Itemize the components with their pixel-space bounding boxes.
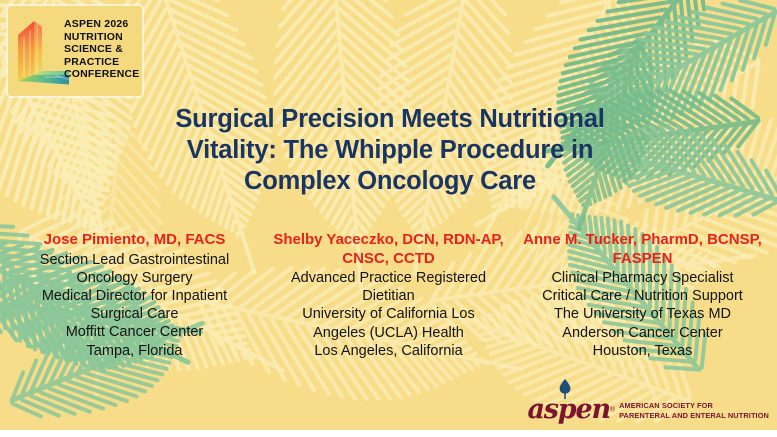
speaker-detail-line: Angeles (UCLA) Health: [262, 324, 515, 342]
badge-line-1: ASPEN 2026: [64, 18, 138, 31]
speaker-detail-line: Oncology Surgery: [8, 269, 261, 287]
badge-line-2: NUTRITION: [64, 31, 138, 44]
speaker-name: Shelby Yaceczko, DCN, RDN-AP, CNSC, CCTD: [262, 231, 515, 268]
speaker-detail-line: Critical Care / Nutrition Support: [516, 287, 769, 305]
title-line-1: Surgical Precision Meets Nutritional: [110, 104, 670, 135]
speaker-details: Clinical Pharmacy Specialist Critical Ca…: [516, 269, 769, 360]
speaker-detail-line: The University of Texas MD: [516, 305, 769, 323]
speaker-detail-line: Dietitian: [262, 287, 515, 305]
bottom-white-strip: [0, 430, 777, 437]
registered-mark: ®: [610, 407, 615, 414]
aspen-tagline-line-2: PARENTERAL AND ENTERAL NUTRITION: [619, 411, 769, 420]
speaker-card-2: Shelby Yaceczko, DCN, RDN-AP, CNSC, CCTD…: [262, 231, 515, 391]
speaker-name: Jose Pimiento, MD, FACS: [8, 231, 261, 250]
aspen-2026-prism-mark: [15, 15, 69, 89]
speaker-card-3: Anne M. Tucker, PharmD, BCNSP, FASPEN Cl…: [516, 231, 769, 391]
badge-text-block: ASPEN 2026 NUTRITION SCIENCE & PRACTICE …: [64, 18, 138, 81]
speaker-detail-line: Clinical Pharmacy Specialist: [516, 269, 769, 287]
conference-title-slide: ASPEN 2026 NUTRITION SCIENCE & PRACTICE …: [0, 0, 777, 437]
speaker-detail-line: University of California Los: [262, 305, 515, 323]
speaker-name: Anne M. Tucker, PharmD, BCNSP, FASPEN: [516, 231, 769, 268]
speaker-details: Advanced Practice Registered Dietitian U…: [262, 269, 515, 360]
page-title: Surgical Precision Meets Nutritional Vit…: [110, 104, 670, 197]
badge-line-4: PRACTICE: [64, 56, 138, 69]
conference-badge: ASPEN 2026 NUTRITION SCIENCE & PRACTICE …: [8, 6, 142, 96]
speaker-detail-line: Surgical Care: [8, 305, 261, 323]
speaker-detail-line: Medical Director for Inpatient: [8, 287, 261, 305]
aspen-tagline-line-1: AMERICAN SOCIETY FOR: [619, 401, 769, 410]
aspen-droplet-leaf-icon: [558, 379, 572, 399]
speaker-detail-line: Section Lead Gastrointestinal: [8, 251, 261, 269]
aspen-wordmark: aspen®: [528, 396, 616, 423]
speaker-detail-line: Houston, Texas: [516, 342, 769, 360]
speaker-detail-line: Moffitt Cancer Center: [8, 323, 261, 341]
aspen-logo: aspen® AMERICAN SOCIETY FOR PARENTERAL A…: [528, 396, 769, 423]
badge-line-5: CONFERENCE: [64, 68, 138, 81]
badge-line-3: SCIENCE &: [64, 43, 138, 56]
title-line-3: Complex Oncology Care: [110, 166, 670, 197]
speaker-details: Section Lead Gastrointestinal Oncology S…: [8, 251, 261, 360]
speaker-detail-line: Anderson Cancer Center: [516, 324, 769, 342]
speaker-card-1: Jose Pimiento, MD, FACS Section Lead Gas…: [8, 231, 261, 391]
aspen-tagline: AMERICAN SOCIETY FOR PARENTERAL AND ENTE…: [619, 401, 769, 423]
speaker-list: Jose Pimiento, MD, FACS Section Lead Gas…: [0, 231, 777, 391]
speaker-detail-line: Tampa, Florida: [8, 342, 261, 360]
title-line-2: Vitality: The Whipple Procedure in: [110, 135, 670, 166]
speaker-detail-line: Advanced Practice Registered: [262, 269, 515, 287]
speaker-detail-line: Los Angeles, California: [262, 342, 515, 360]
